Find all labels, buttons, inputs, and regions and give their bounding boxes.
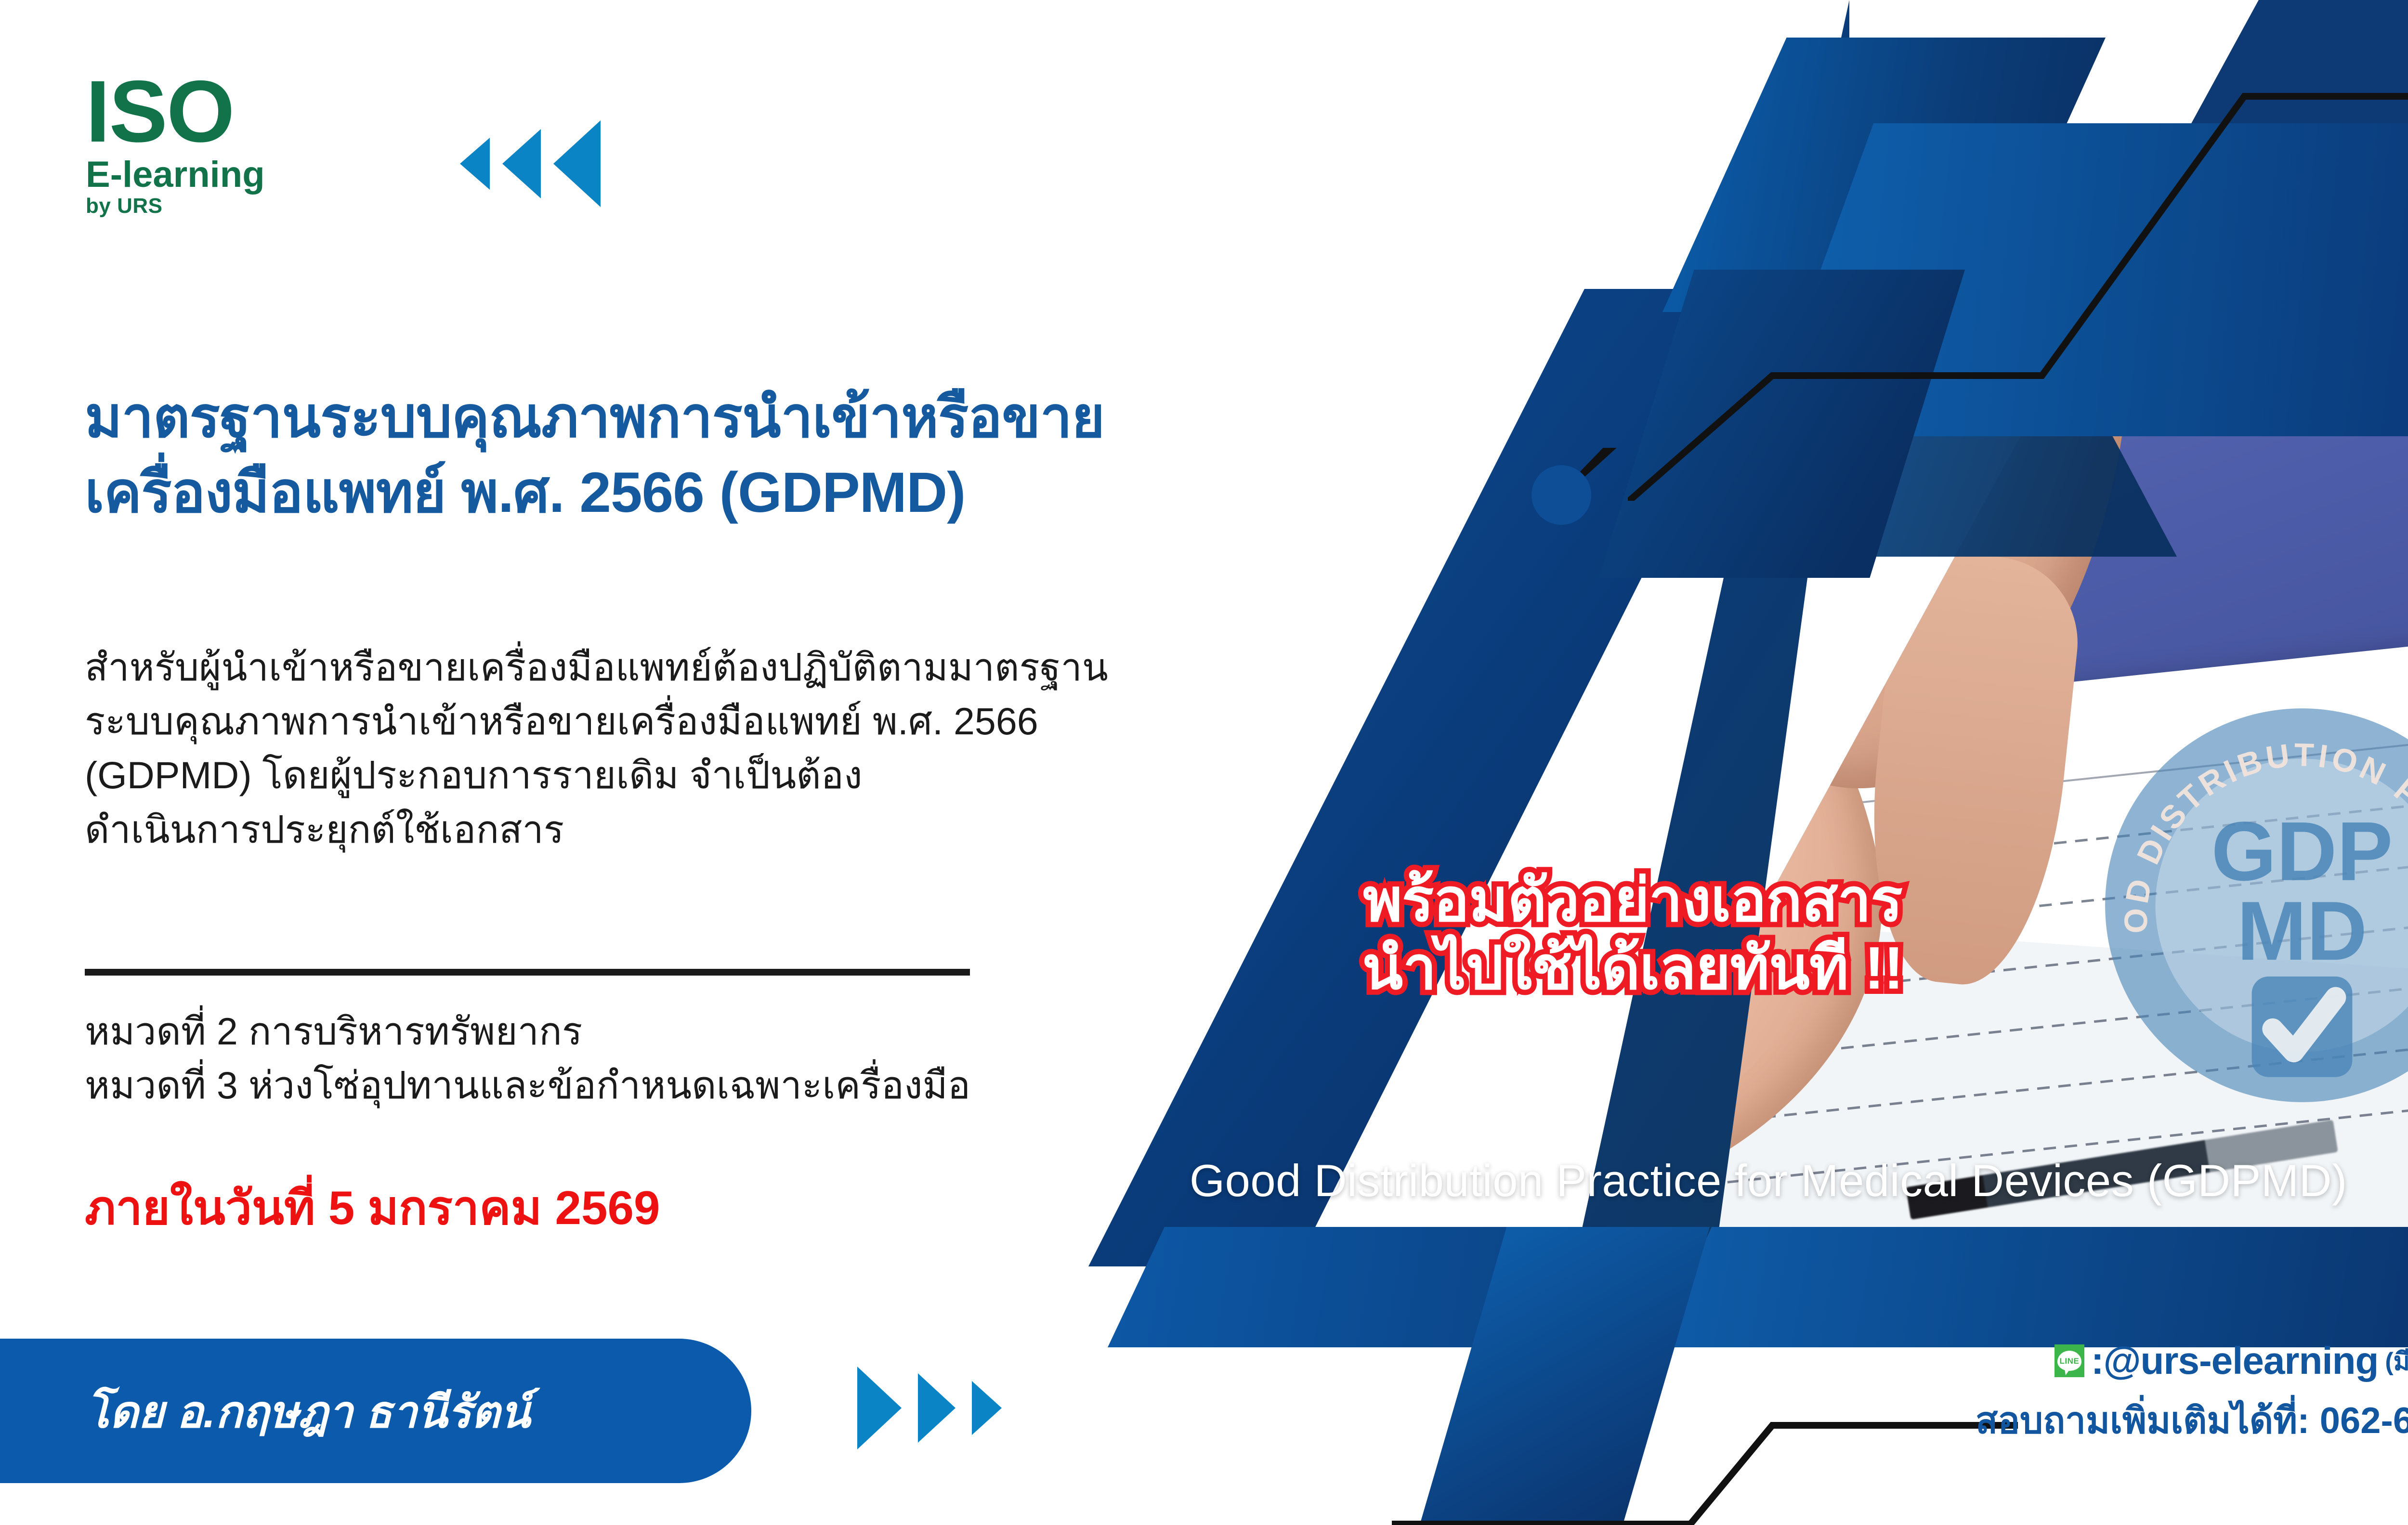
- description-line-2: ระบบคุณภาพการนำเข้าหรือขายเครื่องมือแพทย…: [85, 694, 1347, 748]
- chevron-right-medium-icon: [918, 1373, 955, 1443]
- line-icon-label: LINE: [2060, 1357, 2080, 1365]
- decor-parallelogram-bottom-3: [1657, 1227, 2408, 1347]
- promo-callout: พร้อมตัวอย่างเอกสาร นำไปใช้ได้เลยทันที !…: [1243, 867, 2023, 1003]
- category-item-1: หมวดที่ 2 การบริหารทรัพยากร: [85, 1004, 1289, 1058]
- chevron-right-small-icon: [972, 1381, 1002, 1435]
- chevron-right-large-icon: [857, 1367, 902, 1449]
- iso-logo-by: by URS: [86, 195, 265, 217]
- chevron-left-group-icon: [460, 120, 601, 207]
- deadline-text: ภายในวันที่ 5 มกราคม 2569: [85, 1170, 660, 1245]
- description-line-4: ดำเนินการประยุกต์ใช้เอกสาร: [85, 803, 1347, 857]
- iso-logo-word: ISO: [86, 71, 265, 152]
- description-line-3: (GDPMD) โดยผู้ประกอบการรายเดิม จำเป็นต้อ…: [85, 748, 1347, 802]
- category-list: หมวดที่ 2 การบริหารทรัพยากร หมวดที่ 3 ห่…: [85, 1004, 1289, 1112]
- english-subtitle: Good Distribution Practice for Medical D…: [1190, 1155, 2347, 1207]
- phone-line[interactable]: สอบถามเพิ่มเติมได้ที่: 062-603-7177: [1976, 1392, 2408, 1449]
- line-handle[interactable]: :@urs-elearning: [2091, 1339, 2378, 1383]
- page-title-line-2: เครื่องมือแพทย์ พ.ศ. 2566 (GDPMD): [85, 456, 1481, 531]
- category-item-2: หมวดที่ 3 ห่วงโซ่อุปทานและข้อกำหนดเฉพาะเ…: [85, 1058, 1289, 1112]
- page-title: มาตรฐานระบบคุณภาพการนำเข้าหรือขาย เครื่อ…: [85, 380, 1481, 531]
- divider: [85, 969, 970, 976]
- chevron-right-group-icon: [857, 1367, 1002, 1449]
- description-line-1: สำหรับผู้นำเข้าหรือขายเครื่องมือแพทย์ต้อ…: [85, 640, 1347, 694]
- line-app-icon[interactable]: LINE: [2055, 1344, 2084, 1377]
- chevron-left-small-icon: [460, 138, 490, 190]
- description: สำหรับผู้นำเข้าหรือขายเครื่องมือแพทย์ต้อ…: [85, 640, 1347, 857]
- chevron-left-large-icon: [553, 120, 601, 207]
- line-handle-note: (มี @ ข้างหน้า): [2385, 1341, 2408, 1381]
- instructor-name: โดย อ.กฤษฎา ธานีรัตน์: [86, 1376, 530, 1447]
- page-title-line-1: มาตรฐานระบบคุณภาพการนำเข้าหรือขาย: [85, 380, 1481, 456]
- chevron-left-medium-icon: [502, 129, 541, 198]
- promo-line-1: พร้อมตัวอย่างเอกสาร: [1243, 867, 2023, 935]
- contact-block: LINE :@urs-elearning (มี @ ข้างหน้า) สอบ…: [1976, 1339, 2408, 1449]
- promo-poster: ISO E-learning by URS มาตรฐานระบบคุณภาพก…: [0, 0, 2408, 1525]
- iso-logo: ISO E-learning by URS: [86, 71, 265, 217]
- iso-logo-elearning: E-learning: [86, 156, 265, 194]
- promo-line-2: นำไปใช้ได้เลยทันที !!: [1243, 935, 2023, 1003]
